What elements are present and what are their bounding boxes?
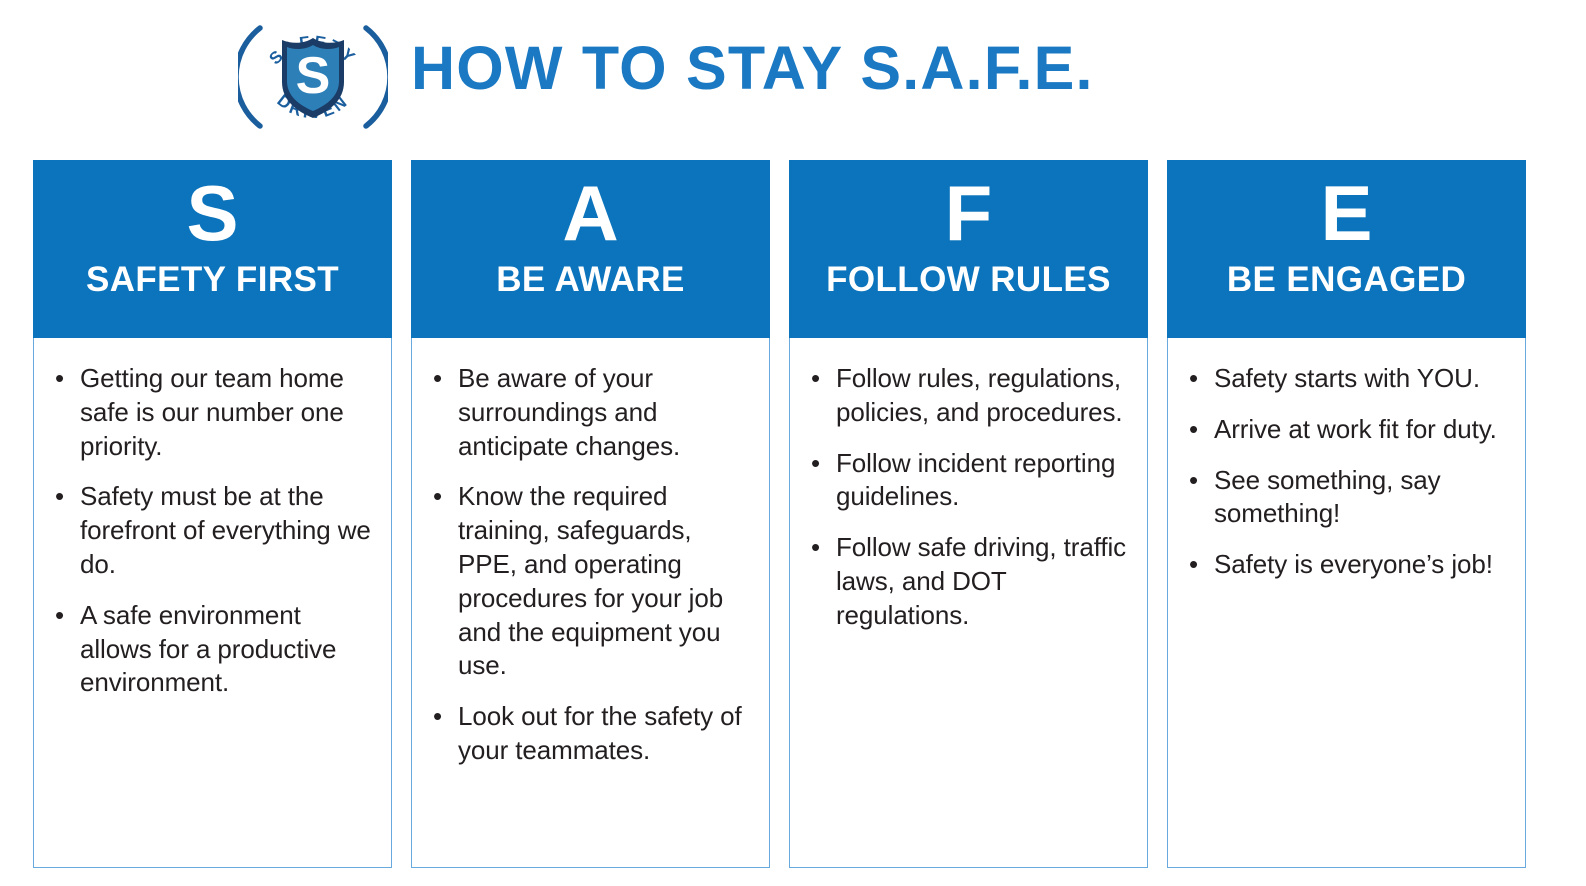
- safe-columns-container: S SAFETY FIRST • Getting our team home s…: [33, 160, 1553, 868]
- list-item: • Safety must be at the forefront of eve…: [46, 480, 377, 581]
- card-header-be-engaged: E BE ENGAGED: [1167, 160, 1526, 338]
- card-body-be-engaged: • Safety starts with YOU. • Arrive at wo…: [1167, 338, 1526, 868]
- list-item: • Safety is everyone’s job!: [1180, 548, 1511, 582]
- bullet-text: Safety must be at the forefront of every…: [80, 480, 377, 581]
- page-title: HOW TO STAY S.A.F.E.: [411, 38, 1094, 99]
- list-item: • A safe environment allows for a produc…: [46, 599, 377, 700]
- bullet-text: Follow rules, regulations, policies, and…: [836, 362, 1133, 430]
- bullet-text: Getting our team home safe is our number…: [80, 362, 377, 463]
- list-item: • Arrive at work fit for duty.: [1180, 413, 1511, 447]
- page-header: SAFETY DRIVEN S HOW TO STAY S.A.F.E.: [0, 0, 1586, 150]
- card-title-be-engaged: BE ENGAGED: [1227, 260, 1466, 300]
- card-letter-f: F: [945, 174, 993, 254]
- safety-driven-logo: SAFETY DRIVEN S: [238, 4, 388, 146]
- bullet-dot-icon: •: [1180, 413, 1214, 447]
- bullet-text: Arrive at work fit for duty.: [1214, 413, 1511, 447]
- card-letter-e: E: [1320, 174, 1372, 254]
- card-body-be-aware: • Be aware of your surroundings and anti…: [411, 338, 770, 868]
- list-item: • See something, say something!: [1180, 464, 1511, 532]
- list-item: • Safety starts with YOU.: [1180, 362, 1511, 396]
- svg-text:S: S: [296, 47, 331, 105]
- bullet-text: Know the required training, safeguards, …: [458, 480, 755, 683]
- bullet-text: A safe environment allows for a producti…: [80, 599, 377, 700]
- list-item: • Be aware of your surroundings and anti…: [424, 362, 755, 463]
- bullet-dot-icon: •: [802, 447, 836, 481]
- bullet-dot-icon: •: [424, 700, 458, 734]
- bullet-dot-icon: •: [1180, 362, 1214, 396]
- bullet-dot-icon: •: [424, 480, 458, 514]
- card-header-be-aware: A BE AWARE: [411, 160, 770, 338]
- list-item: • Look out for the safety of your teamma…: [424, 700, 755, 768]
- card-title-be-aware: BE AWARE: [496, 260, 685, 300]
- bullet-dot-icon: •: [424, 362, 458, 396]
- bullet-text: Be aware of your surroundings and antici…: [458, 362, 755, 463]
- bullet-list-safety-first: • Getting our team home safe is our numb…: [46, 362, 377, 700]
- card-header-safety-first: S SAFETY FIRST: [33, 160, 392, 338]
- card-letter-a: A: [562, 174, 618, 254]
- bullet-text: Follow incident reporting guidelines.: [836, 447, 1133, 515]
- card-follow-rules: F FOLLOW RULES • Follow rules, regulatio…: [789, 160, 1148, 868]
- bullet-dot-icon: •: [802, 531, 836, 565]
- card-header-follow-rules: F FOLLOW RULES: [789, 160, 1148, 338]
- card-letter-s: S: [186, 174, 238, 254]
- bullet-list-be-engaged: • Safety starts with YOU. • Arrive at wo…: [1180, 362, 1511, 582]
- card-title-follow-rules: FOLLOW RULES: [826, 260, 1111, 300]
- card-be-aware: A BE AWARE • Be aware of your surroundin…: [411, 160, 770, 868]
- card-title-safety-first: SAFETY FIRST: [86, 260, 339, 300]
- bullet-dot-icon: •: [46, 599, 80, 633]
- card-body-follow-rules: • Follow rules, regulations, policies, a…: [789, 338, 1148, 868]
- list-item: • Getting our team home safe is our numb…: [46, 362, 377, 463]
- card-be-engaged: E BE ENGAGED • Safety starts with YOU. •…: [1167, 160, 1526, 868]
- bullet-dot-icon: •: [46, 362, 80, 396]
- bullet-text: Safety starts with YOU.: [1214, 362, 1511, 396]
- bullet-dot-icon: •: [802, 362, 836, 396]
- list-item: • Follow rules, regulations, policies, a…: [802, 362, 1133, 430]
- bullet-text: Follow safe driving, traffic laws, and D…: [836, 531, 1133, 632]
- list-item: • Follow incident reporting guidelines.: [802, 447, 1133, 515]
- card-body-safety-first: • Getting our team home safe is our numb…: [33, 338, 392, 868]
- bullet-text: Look out for the safety of your teammate…: [458, 700, 755, 768]
- bullet-dot-icon: •: [46, 480, 80, 514]
- bullet-dot-icon: •: [1180, 464, 1214, 498]
- bullet-list-follow-rules: • Follow rules, regulations, policies, a…: [802, 362, 1133, 633]
- bullet-text: Safety is everyone’s job!: [1214, 548, 1511, 582]
- card-safety-first: S SAFETY FIRST • Getting our team home s…: [33, 160, 392, 868]
- list-item: • Follow safe driving, traffic laws, and…: [802, 531, 1133, 632]
- list-item: • Know the required training, safeguards…: [424, 480, 755, 683]
- bullet-list-be-aware: • Be aware of your surroundings and anti…: [424, 362, 755, 768]
- bullet-dot-icon: •: [1180, 548, 1214, 582]
- bullet-text: See something, say something!: [1214, 464, 1511, 532]
